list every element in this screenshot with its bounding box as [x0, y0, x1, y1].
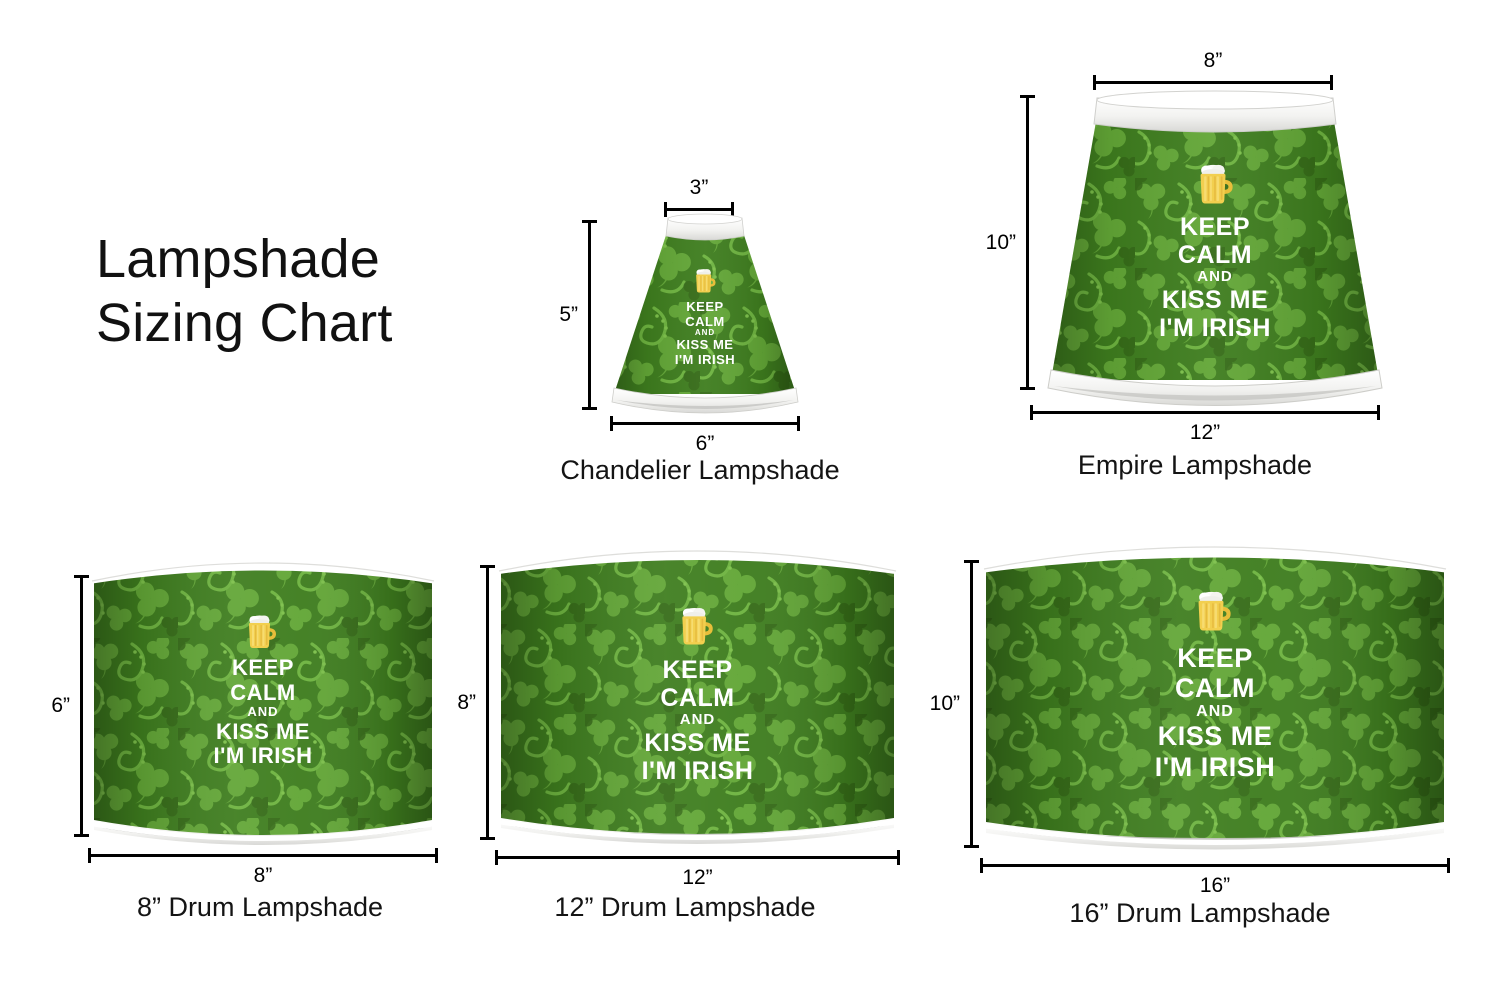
dimension-bar: [1026, 95, 1029, 390]
shade-drum-16: 10” KEEP CALM AND KISS ME I'M IRISH 16”: [930, 520, 1470, 930]
chandelier-top-label: 3”: [664, 176, 734, 200]
beer-mug-icon: [1197, 163, 1235, 206]
drum12-caption: 12” Drum Lampshade: [450, 892, 920, 923]
drum12-height-label: 8”: [457, 691, 476, 715]
drum8-height-dimension: 6”: [74, 575, 88, 837]
dimension-bar: [970, 560, 973, 848]
drum12-shade-art: KEEP CALM AND KISS ME I'M IRISH: [495, 534, 900, 849]
drum8-shade-art: KEEP CALM AND KISS ME I'M IRISH: [88, 548, 438, 848]
chandelier-caption: Chandelier Lampshade: [560, 455, 840, 486]
drum16-height-label: 10”: [930, 692, 960, 716]
shade-chandelier: 3” 5” KEEP CALM AND KISS ME: [560, 170, 840, 490]
beer-mug-icon: [246, 614, 278, 650]
shade-drum-8: 6” KEEP CALM AND KISS ME I'M IRISH: [50, 530, 470, 930]
chandelier-bottom-label: 6”: [610, 432, 800, 456]
dimension-bar: [495, 856, 900, 859]
dimension-bar: [1093, 81, 1333, 84]
drum8-width-dimension: 8”: [88, 848, 438, 862]
drum16-caption: 16” Drum Lampshade: [930, 898, 1470, 929]
beer-mug-icon: [679, 606, 715, 647]
empire-top-label: 8”: [1093, 49, 1333, 73]
empire-caption: Empire Lampshade: [960, 450, 1430, 481]
beer-mug-icon: [694, 268, 717, 294]
dimension-bar: [1030, 411, 1380, 414]
chandelier-height-dimension: 5”: [582, 220, 596, 410]
empire-bottom-dimension: 12”: [1030, 405, 1380, 419]
dimension-bar: [664, 208, 734, 211]
drum16-height-dimension: 10”: [964, 560, 978, 848]
dimension-bar: [80, 575, 83, 837]
chandelier-height-label: 5”: [559, 303, 578, 327]
drum8-caption: 8” Drum Lampshade: [50, 892, 470, 923]
chandelier-shade-art: KEEP CALM AND KISS ME I'M IRISH: [610, 212, 800, 417]
drum12-width-dimension: 12”: [495, 850, 900, 864]
empire-shade-art: KEEP CALM AND KISS ME I'M IRISH: [1045, 88, 1385, 408]
drum8-width-label: 8”: [88, 864, 438, 888]
chandelier-bottom-dimension: 6”: [610, 416, 800, 430]
drum16-width-dimension: 16”: [980, 858, 1450, 872]
drum16-shade-art: KEEP CALM AND KISS ME I'M IRISH: [980, 528, 1450, 858]
dimension-bar: [588, 220, 591, 410]
drum16-width-label: 16”: [980, 874, 1450, 898]
dimension-bar: [88, 854, 438, 857]
empire-height-dimension: 10”: [1020, 95, 1034, 390]
dimension-bar: [980, 864, 1450, 867]
shade-drum-12: 8” KEEP CALM AND KISS ME I'M IRISH 12”: [450, 520, 920, 930]
empire-height-label: 10”: [986, 231, 1016, 255]
shade-empire: 8” 10” KEEP CALM AND KISS ME I'M IRISH: [960, 55, 1430, 485]
drum8-height-label: 6”: [51, 694, 70, 718]
empire-top-dimension: 8”: [1093, 75, 1333, 89]
dimension-bar: [486, 565, 489, 840]
drum12-height-dimension: 8”: [480, 565, 494, 840]
dimension-bar: [610, 422, 800, 425]
drum12-width-label: 12”: [495, 866, 900, 890]
page-title: Lampshade Sizing Chart: [96, 228, 393, 355]
beer-mug-icon: [1195, 590, 1233, 633]
empire-bottom-label: 12”: [1030, 421, 1380, 445]
